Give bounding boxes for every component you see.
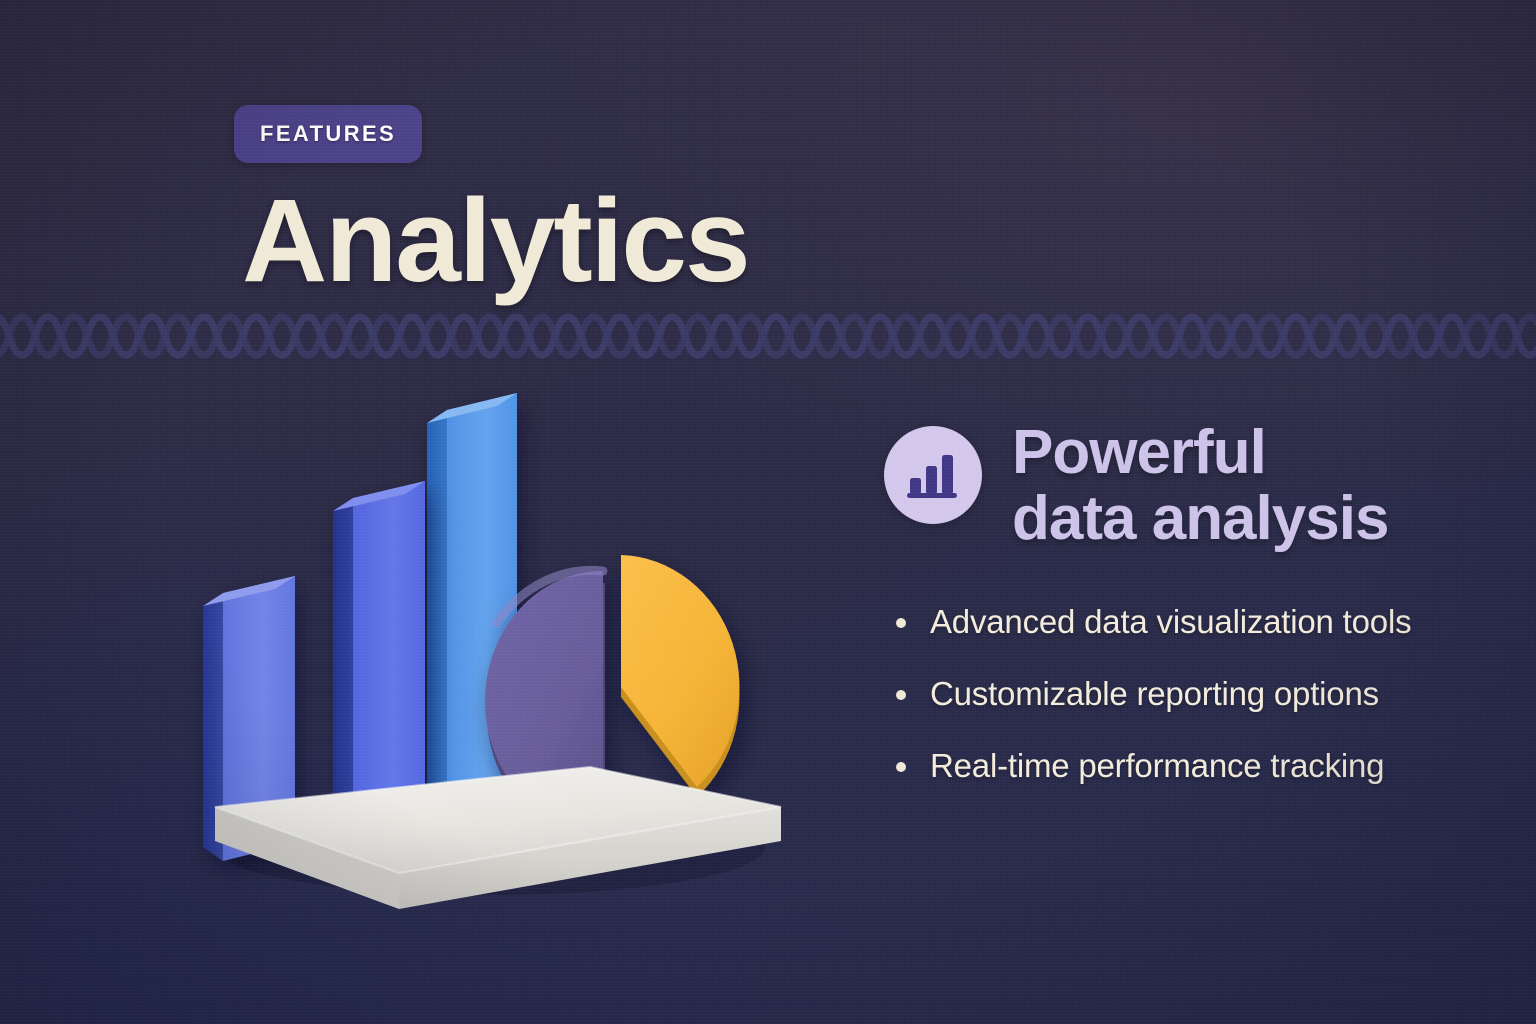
list-item: Advanced data visualization tools xyxy=(896,603,1484,641)
list-item-label: Real-time performance tracking xyxy=(930,747,1384,785)
list-item-label: Advanced data visualization tools xyxy=(930,603,1411,641)
3d-analytics-illustration xyxy=(185,375,805,920)
list-item-label: Customizable reporting options xyxy=(930,675,1379,713)
feature-heading-row: Powerful data analysis xyxy=(884,420,1484,551)
list-item: Customizable reporting options xyxy=(896,675,1484,713)
bar-chart-icon xyxy=(884,426,982,524)
features-badge-label: FEATURES xyxy=(260,121,396,147)
bullet-dot-icon xyxy=(896,762,906,772)
features-badge: FEATURES xyxy=(234,105,422,163)
feature-bullet-list: Advanced data visualization tools Custom… xyxy=(896,603,1484,785)
list-item: Real-time performance tracking xyxy=(896,747,1484,785)
slide-canvas: FEATURES Analytics xyxy=(0,0,1536,1024)
bullet-dot-icon xyxy=(896,690,906,700)
bullet-dot-icon xyxy=(896,618,906,628)
page-title: Analytics xyxy=(242,182,749,300)
braided-rope-divider xyxy=(0,300,1536,372)
bar-2 xyxy=(333,481,425,832)
illustration-base-slab xyxy=(215,767,781,909)
feature-panel: Powerful data analysis Advanced data vis… xyxy=(884,420,1484,819)
feature-title: Powerful data analysis xyxy=(1012,420,1388,551)
